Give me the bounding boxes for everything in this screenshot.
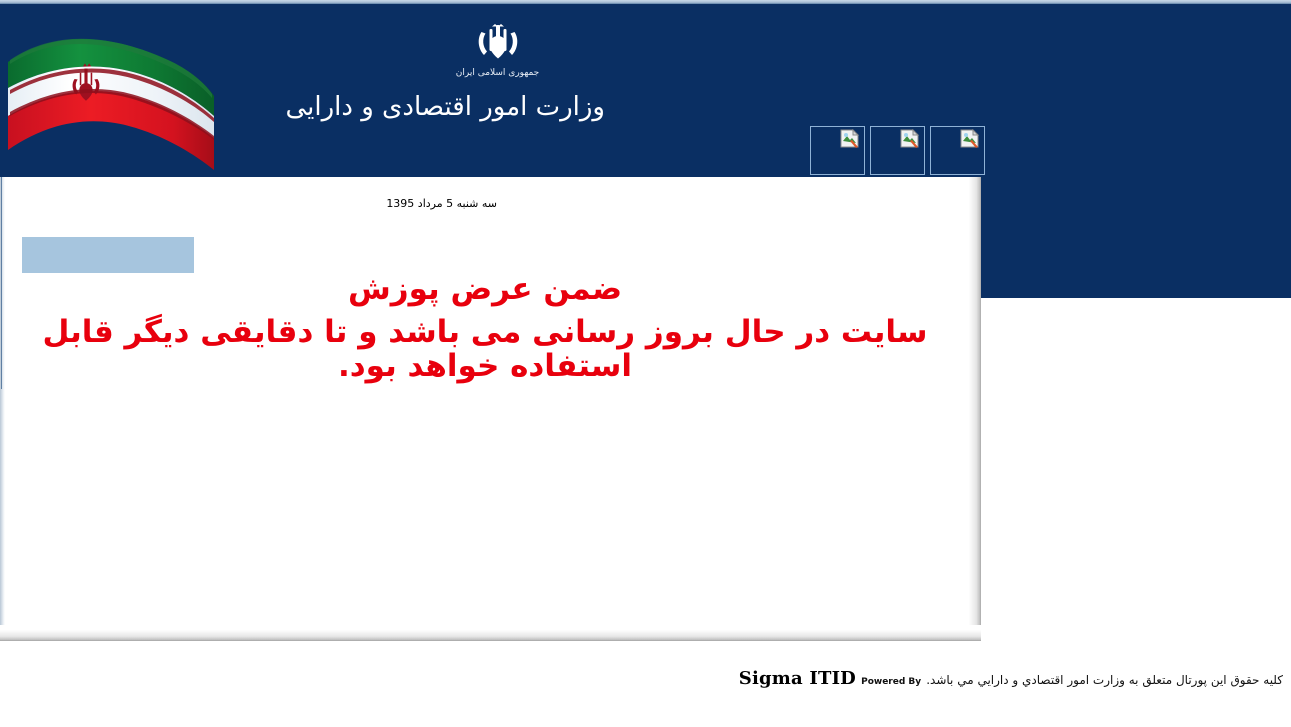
panel-shadow-bottom bbox=[0, 625, 981, 641]
broken-image-icon bbox=[960, 129, 980, 148]
header-image-box-1[interactable] bbox=[810, 126, 865, 175]
footer-powered-by: Powered By bbox=[861, 677, 921, 687]
broken-image-icon bbox=[900, 129, 920, 148]
header-image-box-3[interactable] bbox=[930, 126, 985, 175]
footer-copyright: کلیه حقوق این پورتال متعلق به وزارت امور… bbox=[926, 673, 1283, 687]
ministry-name: وزارت امور اقتصادی و دارایی bbox=[390, 92, 605, 122]
maintenance-notice: ضمن عرض پوزش سایت در حال بروز رسانی می ب… bbox=[20, 272, 950, 384]
footer: کلیه حقوق این پورتال متعلق به وزارت امور… bbox=[0, 668, 1291, 689]
panel-shadow-right bbox=[962, 177, 981, 641]
iran-flag-icon bbox=[0, 4, 228, 180]
brand-block: جمهوری اسلامی ایران وزارت امور اقتصادی و… bbox=[390, 24, 605, 122]
content-panel: سه شنبه 5 مرداد 1395 ضمن عرض پوزش سایت د… bbox=[0, 177, 981, 641]
empty-placeholder-block bbox=[22, 237, 194, 273]
panel-left-rail bbox=[0, 177, 5, 641]
country-name: جمهوری اسلامی ایران bbox=[390, 68, 605, 78]
footer-brand-name: Sigma ITID bbox=[739, 668, 856, 689]
iran-flag-image bbox=[0, 4, 228, 180]
iran-emblem-icon bbox=[475, 24, 521, 66]
notice-apology-line: ضمن عرض پوزش bbox=[20, 272, 950, 307]
current-date: سه شنبه 5 مرداد 1395 bbox=[386, 197, 497, 210]
header-image-box-2[interactable] bbox=[870, 126, 925, 175]
broken-image-icon bbox=[840, 129, 860, 148]
header-image-boxes bbox=[810, 126, 985, 175]
notice-message-line: سایت در حال بروز رسانی می باشد و تا دقای… bbox=[20, 315, 950, 384]
